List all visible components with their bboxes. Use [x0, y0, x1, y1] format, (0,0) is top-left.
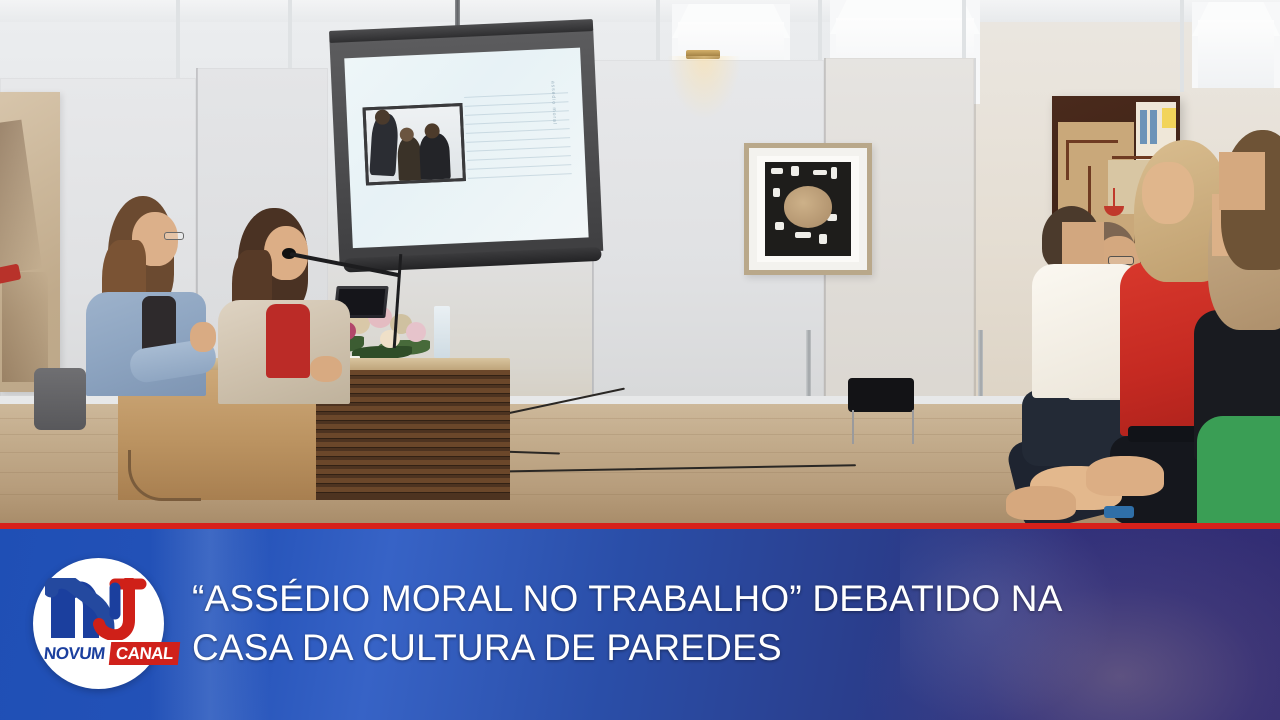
ceiling-band — [0, 0, 1280, 22]
projected-slide: assedio moral — [344, 48, 588, 249]
headline: “ASSÉDIO MORAL NO TRABALHO” DEBATIDO NA … — [192, 574, 1232, 672]
news-frame: assedio moral — [0, 0, 1280, 720]
folded-hands — [1000, 452, 1190, 523]
logo-monogram — [45, 578, 152, 640]
headline-line-2: CASA DA CULTURA DE PAREDES — [192, 623, 1232, 672]
framed-artwork-center — [744, 143, 872, 275]
projection-screen: assedio moral — [329, 19, 604, 276]
arched-window — [1192, 2, 1280, 88]
textile-artwork-left — [0, 92, 60, 392]
slide-photo — [363, 103, 466, 185]
chair — [34, 368, 86, 430]
audience-member — [1215, 130, 1280, 523]
eyeglasses-icon — [164, 232, 184, 240]
equipment-stand — [852, 410, 914, 444]
logo-word-canal: CANAL — [109, 642, 180, 665]
speaker-left — [86, 196, 216, 396]
window-mullion — [288, 0, 292, 78]
wristband — [1104, 506, 1134, 518]
panel-seam — [974, 58, 976, 410]
logo-word-novum: NOVUM — [38, 642, 111, 665]
wall-lamp-icon — [686, 50, 720, 59]
floor-equipment-box — [848, 378, 914, 412]
window-mullion — [1180, 0, 1184, 92]
headline-line-1: “ASSÉDIO MORAL NO TRABALHO” DEBATIDO NA — [192, 574, 1232, 623]
logo-wordmark: NOVUM CANAL — [39, 642, 158, 665]
water-carafe — [434, 306, 450, 358]
window-mullion — [176, 0, 180, 90]
video-scene: assedio moral — [0, 0, 1280, 523]
speaker-right — [218, 208, 358, 396]
channel-logo: NOVUM CANAL — [33, 558, 164, 689]
